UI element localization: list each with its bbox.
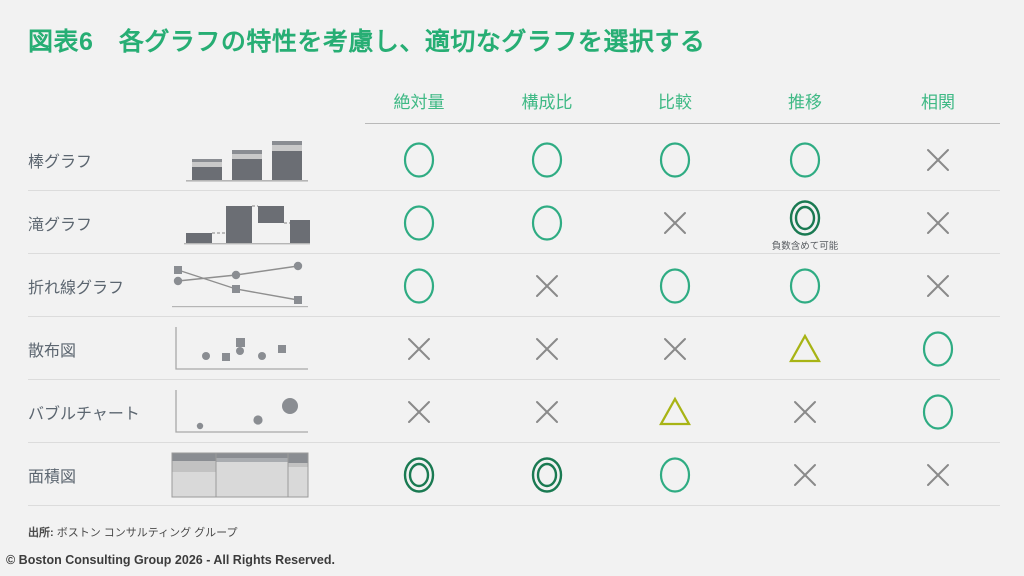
- row-label-4: 散布図: [28, 337, 76, 361]
- circle-icon: [658, 267, 692, 305]
- cross-icon: [533, 398, 561, 426]
- cell-4-2-cross: [492, 324, 602, 374]
- circle-icon: [530, 204, 564, 242]
- row-label-1: 棒グラフ: [28, 148, 92, 172]
- table-header-row: 絶対量構成比比較推移相関: [0, 88, 1024, 128]
- row-thumbnail-4: [170, 325, 310, 373]
- cross-icon: [924, 146, 952, 174]
- row-label-6: 面積図: [28, 463, 76, 487]
- double-circle-icon: [530, 456, 564, 494]
- cell-1-5-cross: [883, 135, 993, 185]
- slide-canvas: 図表6 各グラフの特性を考慮し、適切なグラフを選択する 絶対量構成比比較推移相関…: [0, 0, 1024, 576]
- cell-1-3-circle: [620, 135, 730, 185]
- cell-6-1-double-circle: [364, 450, 474, 500]
- cross-icon: [533, 272, 561, 300]
- scatter-chart-icon: [170, 325, 310, 373]
- cell-4-3-cross: [620, 324, 730, 374]
- cell-3-1-circle: [364, 261, 474, 311]
- cell-2-3-cross: [620, 198, 730, 248]
- triangle-icon: [658, 395, 692, 429]
- cell-5-5-circle: [883, 387, 993, 437]
- table-row: バブルチャート: [0, 380, 1024, 443]
- cross-icon: [791, 461, 819, 489]
- cell-2-5-cross: [883, 198, 993, 248]
- circle-icon: [530, 141, 564, 179]
- cross-icon: [924, 272, 952, 300]
- cell-1-1-circle: [364, 135, 474, 185]
- double-circle-icon: [788, 199, 822, 237]
- cross-icon: [924, 461, 952, 489]
- cell-3-4-circle: [750, 261, 860, 311]
- cell-5-1-cross: [364, 387, 474, 437]
- row-label-5: バブルチャート: [28, 400, 140, 424]
- double-circle-icon: [402, 456, 436, 494]
- circle-icon: [402, 267, 436, 305]
- cell-5-3-triangle: [620, 387, 730, 437]
- stacked-bar-chart-icon: [170, 136, 310, 184]
- cell-note: 負数含めて可能: [772, 238, 839, 252]
- row-label-2: 滝グラフ: [28, 211, 92, 235]
- circle-icon: [402, 204, 436, 242]
- row-thumbnail-2: [170, 199, 310, 247]
- column-header-1: 絶対量: [364, 88, 474, 113]
- row-thumbnail-6: [170, 451, 310, 499]
- cell-3-2-cross: [492, 261, 602, 311]
- cell-6-3-circle: [620, 450, 730, 500]
- row-thumbnail-5: [170, 388, 310, 436]
- cell-5-4-cross: [750, 387, 860, 437]
- circle-icon: [658, 456, 692, 494]
- table-row: 面積図: [0, 443, 1024, 506]
- waterfall-chart-icon: [170, 199, 310, 247]
- column-header-3: 比較: [620, 88, 730, 113]
- cell-2-2-circle: [492, 198, 602, 248]
- cell-6-4-cross: [750, 450, 860, 500]
- cross-icon: [405, 398, 433, 426]
- triangle-icon: [788, 332, 822, 366]
- cell-6-5-cross: [883, 450, 993, 500]
- cell-1-2-circle: [492, 135, 602, 185]
- cell-6-2-double-circle: [492, 450, 602, 500]
- cell-3-3-circle: [620, 261, 730, 311]
- row-thumbnail-3: [170, 262, 310, 310]
- table-row: 散布図: [0, 317, 1024, 380]
- cross-icon: [533, 335, 561, 363]
- copyright-notice: © Boston Consulting Group 2026 - All Rig…: [6, 553, 335, 567]
- header-divider: [365, 123, 1000, 124]
- cell-3-5-cross: [883, 261, 993, 311]
- cell-2-1-circle: [364, 198, 474, 248]
- circle-icon: [788, 267, 822, 305]
- cross-icon: [661, 335, 689, 363]
- bubble-chart-icon: [170, 388, 310, 436]
- cell-2-4-double-circle: 負数含めて可能: [750, 197, 860, 249]
- cell-1-4-circle: [750, 135, 860, 185]
- cross-icon: [405, 335, 433, 363]
- circle-icon: [658, 141, 692, 179]
- cross-icon: [924, 209, 952, 237]
- row-label-3: 折れ線グラフ: [28, 274, 124, 298]
- source-label: 出所:: [28, 527, 54, 539]
- comparison-table: 絶対量構成比比較推移相関棒グラフ 滝グラフ 負数含めて可能 折れ線グラフ: [0, 88, 1024, 506]
- column-header-2: 構成比: [492, 88, 602, 113]
- cell-4-1-cross: [364, 324, 474, 374]
- mosaic-chart-icon: [170, 451, 310, 499]
- table-row: 棒グラフ: [0, 128, 1024, 191]
- circle-icon: [921, 330, 955, 368]
- column-header-4: 推移: [750, 88, 860, 113]
- cell-4-4-triangle: [750, 324, 860, 374]
- column-header-5: 相関: [883, 88, 993, 113]
- cell-5-2-cross: [492, 387, 602, 437]
- cross-icon: [791, 398, 819, 426]
- row-thumbnail-1: [170, 136, 310, 184]
- line-chart-icon: [170, 262, 310, 310]
- circle-icon: [921, 393, 955, 431]
- cross-icon: [661, 209, 689, 237]
- source-value: ボストン コンサルティング グループ: [57, 527, 238, 539]
- table-row: 折れ線グラフ: [0, 254, 1024, 317]
- table-row: 滝グラフ 負数含めて可能: [0, 191, 1024, 254]
- circle-icon: [788, 141, 822, 179]
- page-title: 図表6 各グラフの特性を考慮し、適切なグラフを選択する: [28, 22, 705, 58]
- source-note: 出所: ボストン コンサルティング グループ: [28, 524, 238, 540]
- row-divider: [28, 505, 1000, 506]
- cell-4-5-circle: [883, 324, 993, 374]
- circle-icon: [402, 141, 436, 179]
